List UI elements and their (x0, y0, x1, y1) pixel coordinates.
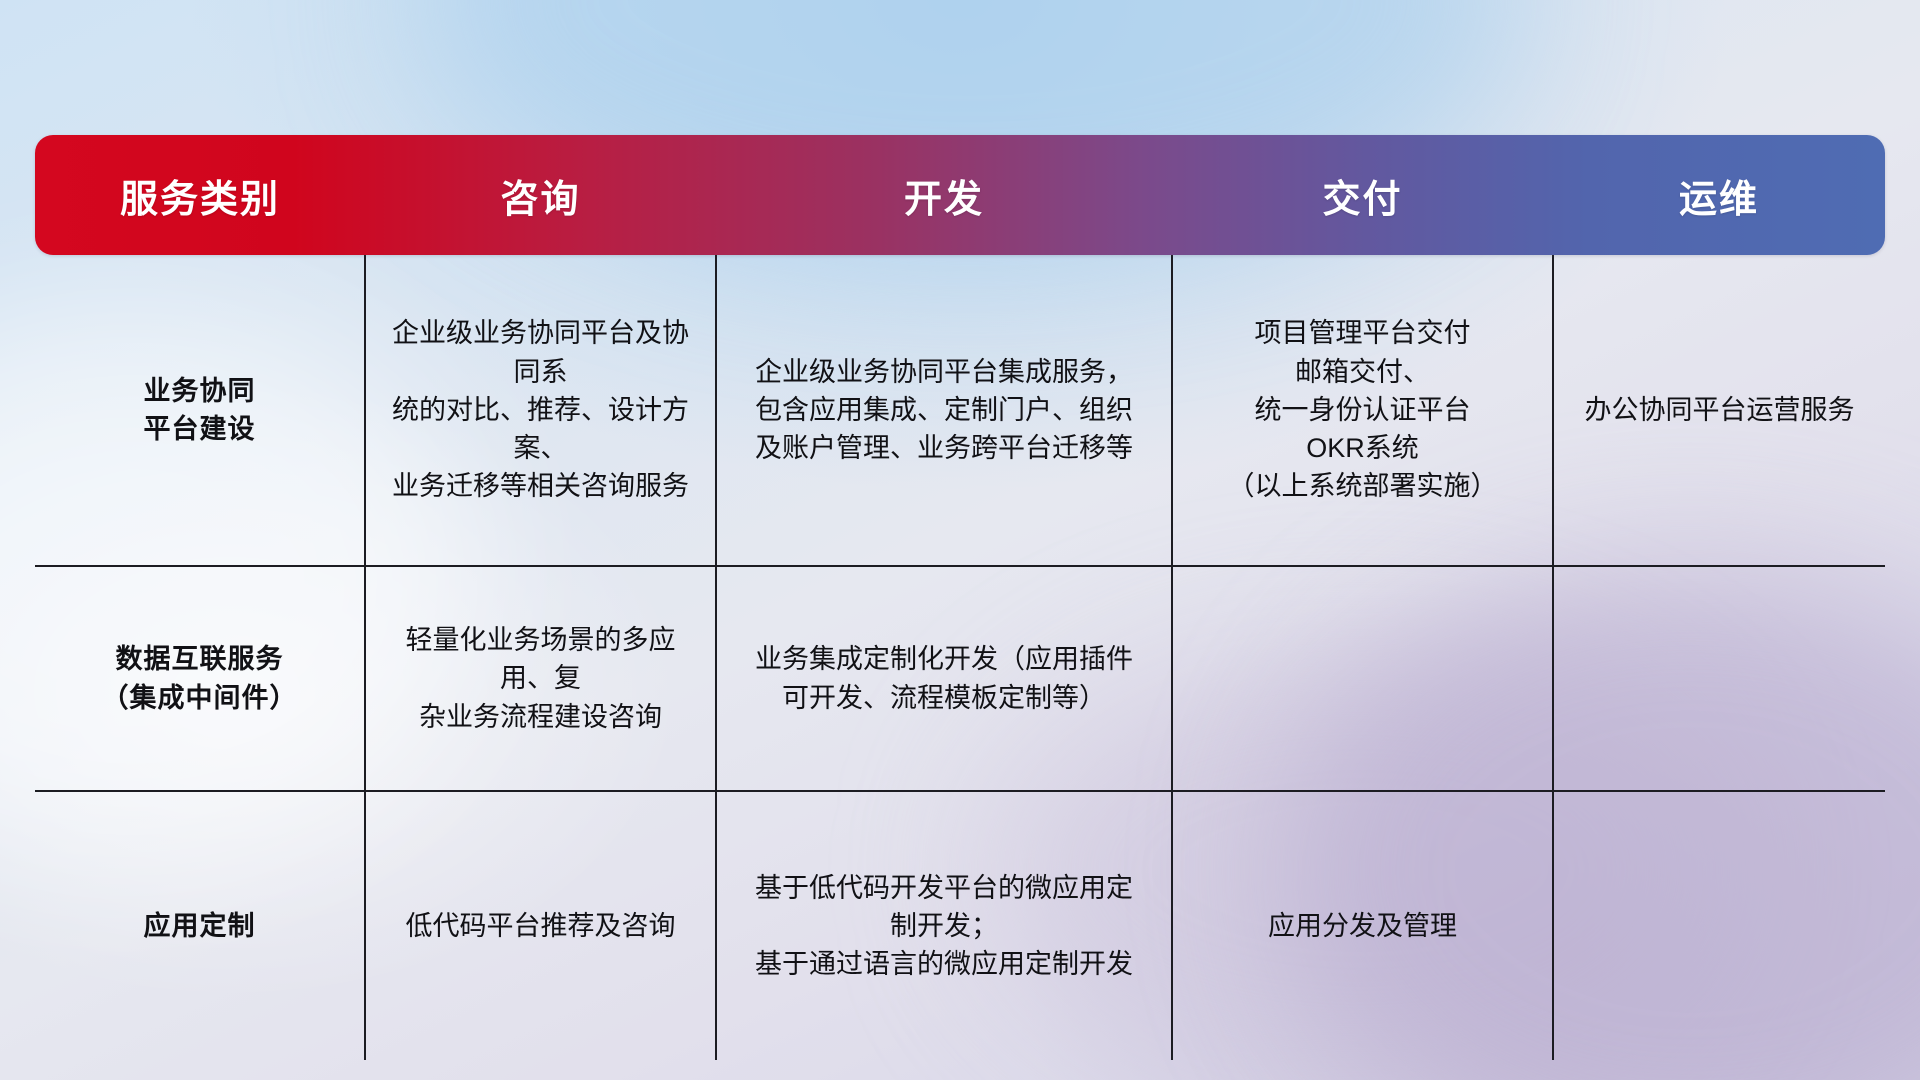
cell-text-line: 包含应用集成、定制门户、组织 (733, 391, 1155, 429)
service-matrix-table-wrapper: 服务类别 咨询 开发 交付 运维 业务协同平台建设 企业级业务协同平台及协同系统… (35, 135, 1885, 1060)
column-header-operations: 运维 (1553, 135, 1885, 255)
slide-canvas: 服务类别 咨询 开发 交付 运维 业务协同平台建设 企业级业务协同平台及协同系统… (0, 0, 1920, 1080)
cell-text-line: 邮箱交付、 (1189, 353, 1536, 391)
cell-text-line: 轻量化业务场景的多应用、复 (382, 621, 699, 698)
cell-category: 数据互联服务（集成中间件） (35, 566, 365, 791)
cell-development: 企业级业务协同平台集成服务，包含应用集成、定制门户、组织及账户管理、业务跨平台迁… (716, 255, 1172, 566)
cell-text-line: 企业级业务协同平台及协同系 (382, 314, 699, 391)
cell-text-line: 平台建设 (51, 410, 348, 448)
cell-text-line: 数据互联服务 (51, 640, 348, 678)
table-row: 应用定制 低代码平台推荐及咨询 基于低代码开发平台的微应用定制开发；基于通过语言… (35, 791, 1885, 1060)
cell-text-line: OKR系统 (1189, 429, 1536, 467)
cell-delivery: 项目管理平台交付邮箱交付、统一身份认证平台OKR系统（以上系统部署实施） (1172, 255, 1553, 566)
cell-text-line: 制开发； (733, 907, 1155, 945)
service-matrix-table: 服务类别 咨询 开发 交付 运维 业务协同平台建设 企业级业务协同平台及协同系统… (35, 135, 1885, 1060)
cell-operations (1553, 566, 1885, 791)
cell-text-line: 可开发、流程模板定制等） (733, 679, 1155, 717)
column-header-development: 开发 (716, 135, 1172, 255)
column-header-delivery: 交付 (1172, 135, 1553, 255)
cell-text-line: 企业级业务协同平台集成服务， (733, 353, 1155, 391)
cell-text-line: 低代码平台推荐及咨询 (382, 907, 699, 945)
cell-text-line: 办公协同平台运营服务 (1570, 391, 1869, 429)
cell-text-line: 统一身份认证平台 (1189, 391, 1536, 429)
cell-consulting: 企业级业务协同平台及协同系统的对比、推荐、设计方案、业务迁移等相关咨询服务 (365, 255, 716, 566)
column-header-category: 服务类别 (35, 135, 365, 255)
table-header-row: 服务类别 咨询 开发 交付 运维 (35, 135, 1885, 255)
cell-text-line: （以上系统部署实施） (1189, 467, 1536, 505)
cell-consulting: 轻量化业务场景的多应用、复杂业务流程建设咨询 (365, 566, 716, 791)
cell-text-line: 统的对比、推荐、设计方案、 (382, 391, 699, 468)
cell-category: 业务协同平台建设 (35, 255, 365, 566)
cell-text-line: （集成中间件） (51, 679, 348, 717)
cell-text-line: 项目管理平台交付 (1189, 314, 1536, 352)
cell-text-line: 基于通过语言的微应用定制开发 (733, 945, 1155, 983)
table-row: 业务协同平台建设 企业级业务协同平台及协同系统的对比、推荐、设计方案、业务迁移等… (35, 255, 1885, 566)
cell-development: 基于低代码开发平台的微应用定制开发；基于通过语言的微应用定制开发 (716, 791, 1172, 1060)
column-header-consulting: 咨询 (365, 135, 716, 255)
cell-text-line: 基于低代码开发平台的微应用定 (733, 869, 1155, 907)
cell-delivery (1172, 566, 1553, 791)
cell-text-line: 业务迁移等相关咨询服务 (382, 467, 699, 505)
cell-delivery: 应用分发及管理 (1172, 791, 1553, 1060)
cell-operations (1553, 791, 1885, 1060)
cell-text-line: 及账户管理、业务跨平台迁移等 (733, 429, 1155, 467)
cell-operations: 办公协同平台运营服务 (1553, 255, 1885, 566)
cell-development: 业务集成定制化开发（应用插件可开发、流程模板定制等） (716, 566, 1172, 791)
cell-text-line: 应用定制 (51, 907, 348, 945)
cell-text-line: 业务协同 (51, 372, 348, 410)
cell-category: 应用定制 (35, 791, 365, 1060)
cell-text-line: 业务集成定制化开发（应用插件 (733, 640, 1155, 678)
cell-consulting: 低代码平台推荐及咨询 (365, 791, 716, 1060)
cell-text-line: 杂业务流程建设咨询 (382, 698, 699, 736)
cell-text-line: 应用分发及管理 (1189, 907, 1536, 945)
table-row: 数据互联服务（集成中间件） 轻量化业务场景的多应用、复杂业务流程建设咨询 业务集… (35, 566, 1885, 791)
